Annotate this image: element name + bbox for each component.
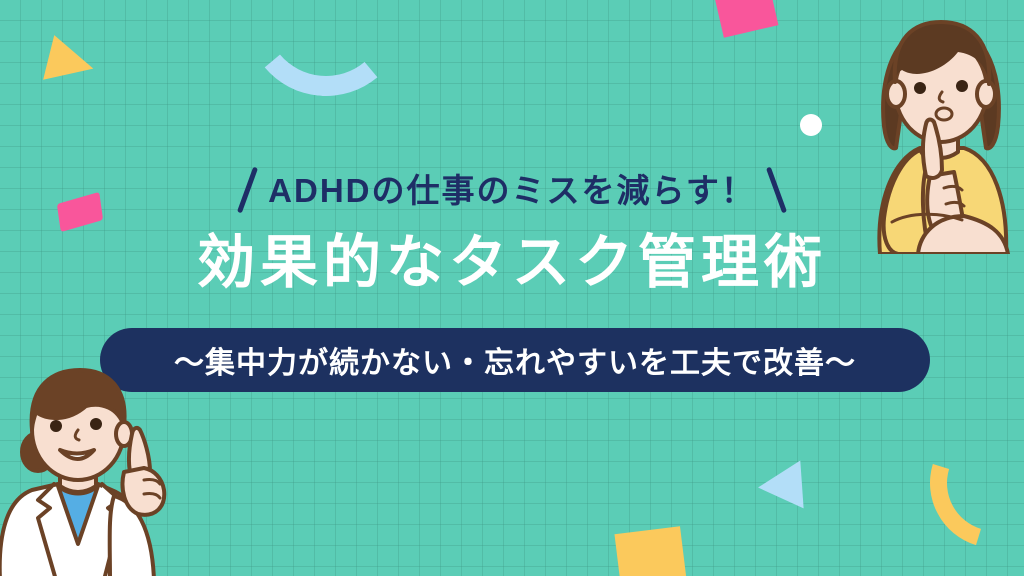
arc-light-blue-decoration [239, 0, 412, 103]
sub-banner: 〜集中力が続かない・忘れやすいを工夫で改善〜 [100, 328, 930, 392]
slash-right-icon [766, 167, 787, 214]
dot-white-decoration [800, 114, 822, 136]
triangle-light-blue-decoration [756, 461, 803, 512]
slash-left-icon [237, 167, 258, 214]
square-yellow-decoration [614, 526, 687, 576]
doctor-pointing-illustration [0, 368, 180, 576]
arc-yellow-decoration [907, 395, 1024, 571]
thumbnail-canvas: ADHDの仕事のミスを減らす！ 効果的なタスク管理術 〜集中力が続かない・忘れや… [0, 0, 1024, 576]
sub-banner-text: 〜集中力が続かない・忘れやすいを工夫で改善〜 [174, 338, 856, 382]
square-pink-decoration [714, 0, 779, 38]
headline-text: ADHDの仕事のミスを減らす！ [268, 174, 756, 207]
woman-thinking-illustration [858, 8, 1024, 254]
triangle-yellow-decoration [43, 35, 99, 91]
